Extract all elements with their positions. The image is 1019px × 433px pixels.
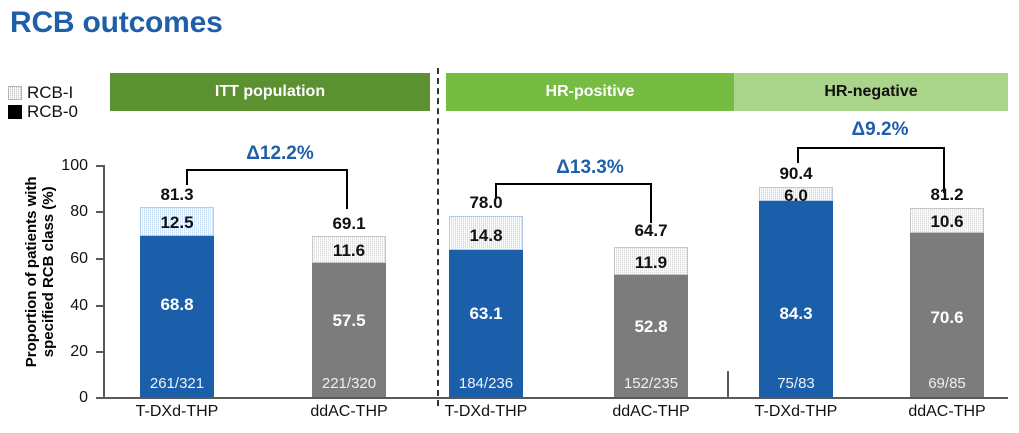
y-tick-label-60: 60 xyxy=(54,251,88,267)
bar-hrpos-tdxd[interactable]: 14.8 63.1 184/236 xyxy=(449,216,523,397)
delta-label-hr-negative: Δ9.2% xyxy=(790,120,970,139)
x-axis-line xyxy=(103,397,1008,399)
bar-fraction-label: 69/85 xyxy=(910,376,984,391)
bar-total-itt-ddac: 69.1 xyxy=(312,215,386,232)
y-tick-label-100: 100 xyxy=(54,158,88,174)
bar-segment-rcb-i: 14.8 xyxy=(449,216,523,250)
y-tick-label-40: 40 xyxy=(54,298,88,314)
bar-segment-rcb-0: 68.8 261/321 xyxy=(140,236,214,397)
y-tick-80 xyxy=(96,211,104,213)
y-tick-0 xyxy=(96,397,104,399)
bar-hrneg-ddac[interactable]: 10.6 70.6 69/85 xyxy=(910,208,984,397)
bar-hrpos-ddac[interactable]: 11.9 52.8 152/235 xyxy=(614,247,688,397)
y-tick-60 xyxy=(96,258,104,260)
bar-hrneg-tdxd[interactable]: 6.0 84.3 75/83 xyxy=(759,187,833,397)
bar-chart-plot: Proportion of patients with specified RC… xyxy=(0,0,1019,433)
bar-total-hrneg-ddac: 81.2 xyxy=(910,186,984,203)
x-tick-label-hrpos-ddac: ddAC-THP xyxy=(596,404,706,420)
bar-segment-rcb-0: 57.5 221/320 xyxy=(312,263,386,397)
y-tick-100 xyxy=(96,165,104,167)
bar-segment-rcb-0: 84.3 75/83 xyxy=(759,201,833,397)
y-tick-label-20: 20 xyxy=(54,344,88,360)
x-tick-label-hrneg-tdxd: T-DXd-THP xyxy=(741,404,851,420)
bar-segment-rcb-i: 12.5 xyxy=(140,207,214,236)
y-tick-20 xyxy=(96,351,104,353)
bar-segment-rcb-0: 52.8 152/235 xyxy=(614,275,688,397)
bar-segment-rcb-i: 6.0 xyxy=(759,187,833,201)
y-tick-40 xyxy=(96,305,104,307)
y-tick-label-80: 80 xyxy=(54,204,88,220)
y-axis-title: Proportion of patients with specified RC… xyxy=(24,147,58,397)
bar-itt-ddac[interactable]: 11.6 57.5 221/320 xyxy=(312,236,386,397)
delta-label-itt: Δ12.2% xyxy=(190,144,370,163)
bar-segment-rcb-0: 70.6 69/85 xyxy=(910,233,984,397)
bar-itt-tdxd[interactable]: 12.5 68.8 261/321 xyxy=(140,207,214,397)
bar-total-hrpos-tdxd: 78.0 xyxy=(449,194,523,211)
delta-label-hr-positive: Δ13.3% xyxy=(500,158,680,177)
x-tick-label-itt-tdxd: T-DXd-THP xyxy=(122,404,232,420)
bar-fraction-label: 152/235 xyxy=(614,376,688,391)
group-separator-solid xyxy=(727,371,729,399)
y-tick-label-0: 0 xyxy=(54,390,88,406)
bar-total-hrneg-tdxd: 90.4 xyxy=(759,165,833,182)
x-tick-label-hrpos-tdxd: T-DXd-THP xyxy=(431,404,541,420)
x-tick-label-hrneg-ddac: ddAC-THP xyxy=(892,404,1002,420)
bar-segment-rcb-i: 10.6 xyxy=(910,208,984,233)
bar-segment-rcb-0: 63.1 184/236 xyxy=(449,250,523,397)
bar-fraction-label: 184/236 xyxy=(449,376,523,391)
bar-fraction-label: 221/320 xyxy=(312,376,386,391)
bar-segment-rcb-i: 11.6 xyxy=(312,236,386,263)
y-axis-line xyxy=(103,165,105,399)
group-separator-dashed xyxy=(437,68,439,406)
bar-fraction-label: 261/321 xyxy=(140,376,214,391)
bar-total-itt-tdxd: 81.3 xyxy=(140,186,214,203)
bar-fraction-label: 75/83 xyxy=(759,376,833,391)
x-tick-label-itt-ddac: ddAC-THP xyxy=(294,404,404,420)
bar-segment-rcb-i: 11.9 xyxy=(614,247,688,275)
bar-total-hrpos-ddac: 64.7 xyxy=(614,222,688,239)
